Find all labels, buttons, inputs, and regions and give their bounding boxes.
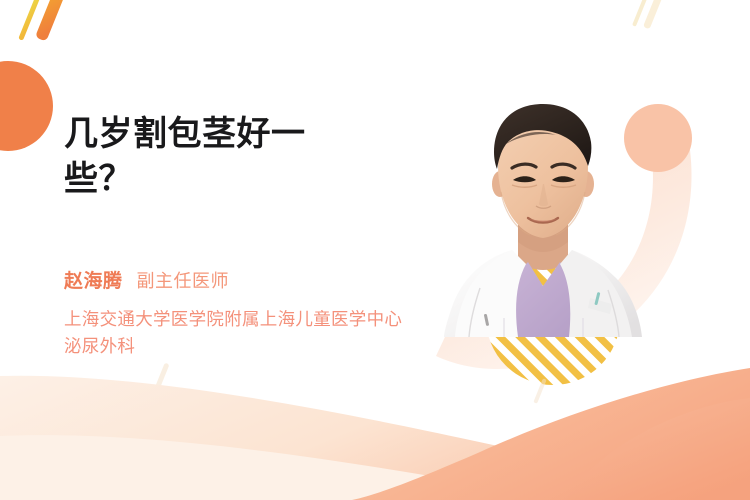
doctor-name-row: 赵海腾 副主任医师 (64, 266, 494, 293)
doctor-qa-card: 几岁割包茎好一些？ 赵海腾 副主任医师 上海交通大学医学院附属上海儿童医学中心 … (0, 0, 750, 500)
diagonal-streak-bottom (151, 363, 546, 404)
doctor-job-title: 副主任医师 (137, 267, 230, 293)
text-content-block: 几岁割包茎好一些？ 赵海腾 副主任医师 上海交通大学医学院附属上海儿童医学中心 … (64, 112, 494, 361)
diagonal-streak-group-top-left (18, 0, 73, 42)
diagonal-streak-group-top-right (632, 0, 672, 29)
doctor-name: 赵海腾 (64, 266, 123, 293)
bottom-wave-group (0, 368, 750, 500)
orange-circle-decoration (0, 61, 53, 151)
doctor-department: 泌尿外科 (64, 334, 494, 361)
doctor-hospital: 上海交通大学医学院附属上海儿童医学中心 (64, 307, 484, 334)
page-title: 几岁割包茎好一些？ (64, 112, 364, 202)
